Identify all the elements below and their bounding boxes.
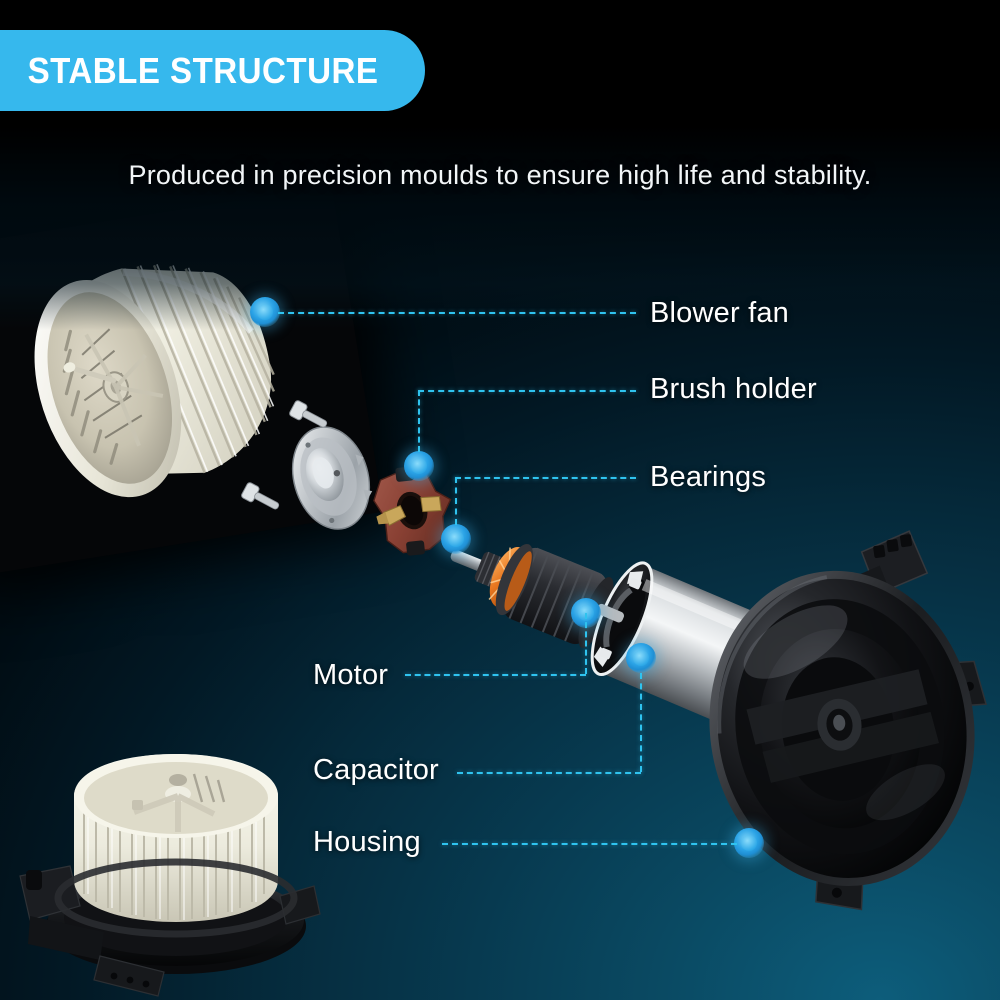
screw-icon [288, 400, 332, 434]
callout-dot-blower-fan [250, 297, 280, 327]
callout-line-motor-v [585, 613, 587, 674]
callout-line-bearings-v [455, 477, 457, 525]
blower-housing-image [690, 528, 1000, 928]
callout-line-bearings-h [455, 477, 636, 479]
section-subtitle: Produced in precision moulds to ensure h… [0, 160, 1000, 191]
callout-line-capacitor-v [640, 673, 642, 772]
callout-line-brush-holder-h [418, 390, 636, 392]
callout-line-brush-holder-v [418, 390, 420, 452]
section-badge: STABLE STRUCTURE [0, 30, 425, 111]
callout-line-housing [442, 843, 737, 845]
callout-line-blower-fan [278, 312, 636, 314]
callout-label-capacitor: Capacitor [313, 754, 439, 787]
callout-line-motor-h [405, 674, 586, 676]
infographic-canvas: STABLE STRUCTURE Produced in precision m… [0, 0, 1000, 1000]
callout-label-blower-fan: Blower fan [650, 297, 789, 330]
callout-dot-brush-holder [404, 451, 434, 481]
callout-label-motor: Motor [313, 659, 388, 692]
callout-dot-housing [734, 828, 764, 858]
callout-dot-capacitor [626, 643, 656, 673]
screw-icon [240, 482, 284, 516]
callout-label-brush-holder: Brush holder [650, 373, 817, 406]
callout-label-housing: Housing [313, 826, 421, 859]
badge-title: STABLE STRUCTURE [0, 50, 378, 92]
assembled-blower-motor-image [8, 748, 338, 1000]
callout-label-bearings: Bearings [650, 461, 766, 494]
callout-dot-bearings [441, 524, 471, 554]
callout-line-capacitor-h [457, 772, 641, 774]
